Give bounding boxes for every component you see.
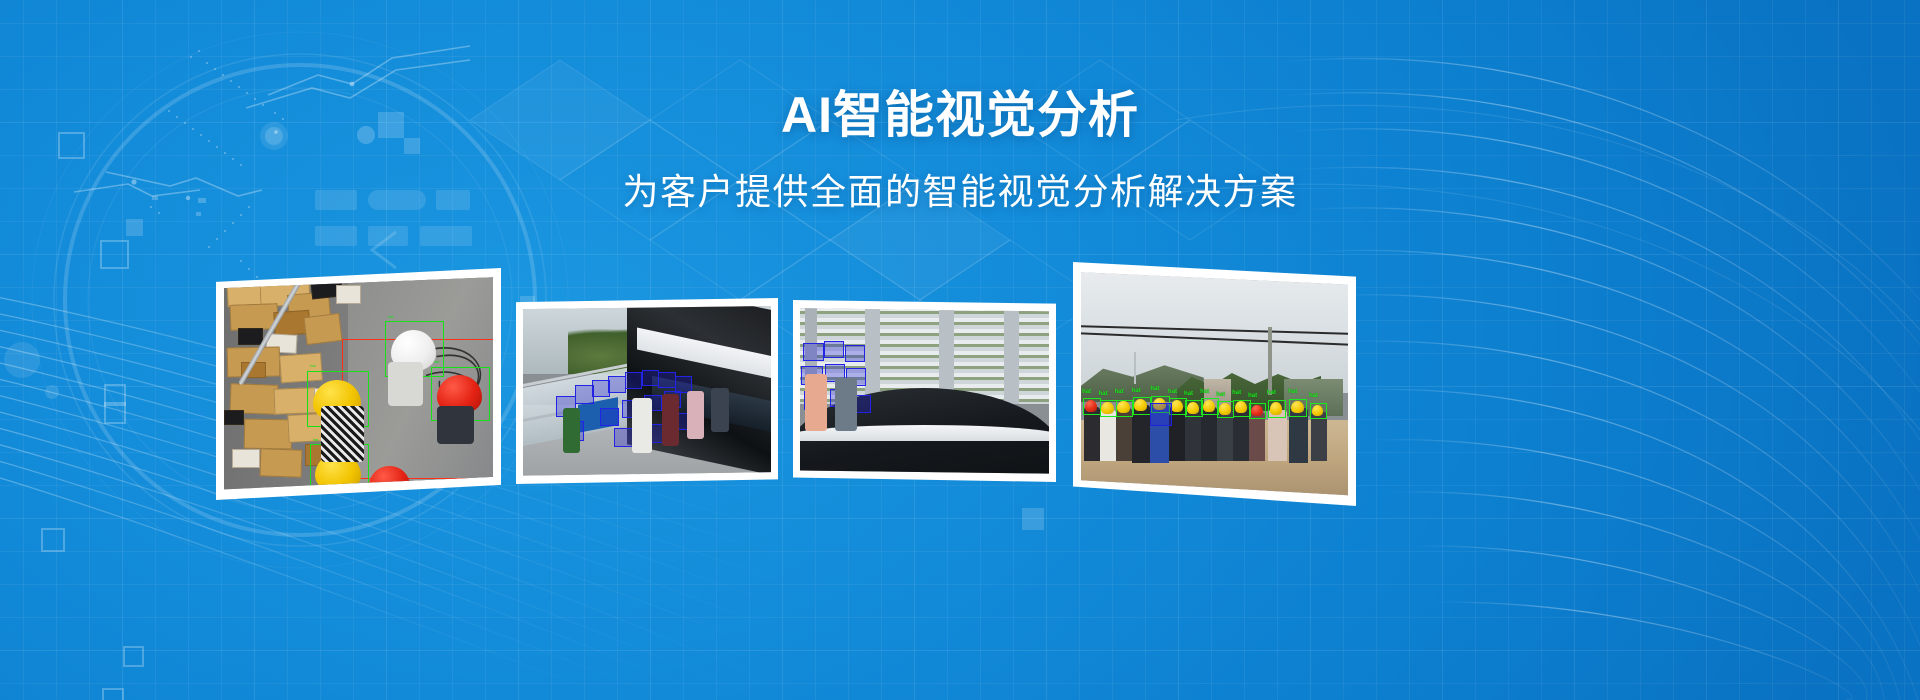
gallery-card[interactable] xyxy=(793,300,1056,482)
gallery-card-photo: hat hat hat hat hat hat hat hat xyxy=(1081,270,1348,498)
gallery-card[interactable]: hat hat hat hat hat hat hat hat xyxy=(1073,262,1356,506)
outdoor-worker-hat-detection-image: hat hat hat hat hat hat hat hat xyxy=(1081,270,1348,498)
escalator-crowd-detection-image xyxy=(800,307,1049,475)
gallery-card-photo xyxy=(523,305,771,477)
gallery-card[interactable]: hat hat hat hat xyxy=(216,268,501,500)
ai-vision-banner: AI智能视觉分析 为客户提供全面的智能视觉分析解决方案 xyxy=(0,0,1920,700)
decor-square xyxy=(123,646,144,667)
page-title: AI智能视觉分析 xyxy=(0,86,1920,144)
detection-gallery: hat hat hat hat xyxy=(0,258,1920,528)
gallery-card[interactable] xyxy=(516,298,778,484)
decor-square xyxy=(41,528,65,552)
warehouse-helmet-detection-image: hat hat hat hat xyxy=(224,276,493,492)
gallery-card-photo xyxy=(800,307,1049,475)
decor-square-filled xyxy=(126,219,143,236)
headline-block: AI智能视觉分析 为客户提供全面的智能视觉分析解决方案 xyxy=(0,86,1920,213)
station-platform-crowd-detection-image xyxy=(523,305,771,477)
decor-square xyxy=(102,688,124,700)
gallery-card-photo: hat hat hat hat xyxy=(224,276,493,492)
page-subtitle: 为客户提供全面的智能视觉分析解决方案 xyxy=(0,170,1920,213)
